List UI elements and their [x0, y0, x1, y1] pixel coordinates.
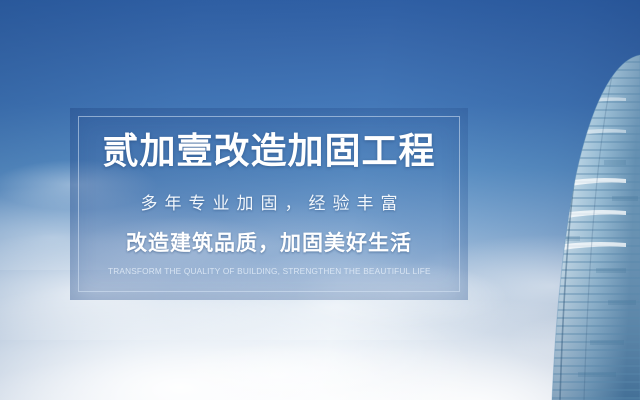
- page-title: 贰加壹改造加固工程: [102, 132, 435, 170]
- panel-content: 贰加壹改造加固工程 多年专业加固，经验丰富 改造建筑品质，加固美好生活 TRAN…: [70, 108, 468, 300]
- curved-glass-skyscraper-icon: [520, 0, 640, 400]
- hero-banner: 贰加壹改造加固工程 多年专业加固，经验丰富 改造建筑品质，加固美好生活 TRAN…: [0, 0, 640, 400]
- content-panel: 贰加壹改造加固工程 多年专业加固，经验丰富 改造建筑品质，加固美好生活 TRAN…: [70, 108, 468, 300]
- tagline-english: TRANSFORM THE QUALITY OF BUILDING, STREN…: [108, 266, 431, 276]
- tagline-secondary: 改造建筑品质，加固美好生活: [126, 227, 412, 257]
- tagline-primary: 多年专业加固，经验丰富: [134, 189, 405, 214]
- skyscraper-image: [520, 0, 640, 400]
